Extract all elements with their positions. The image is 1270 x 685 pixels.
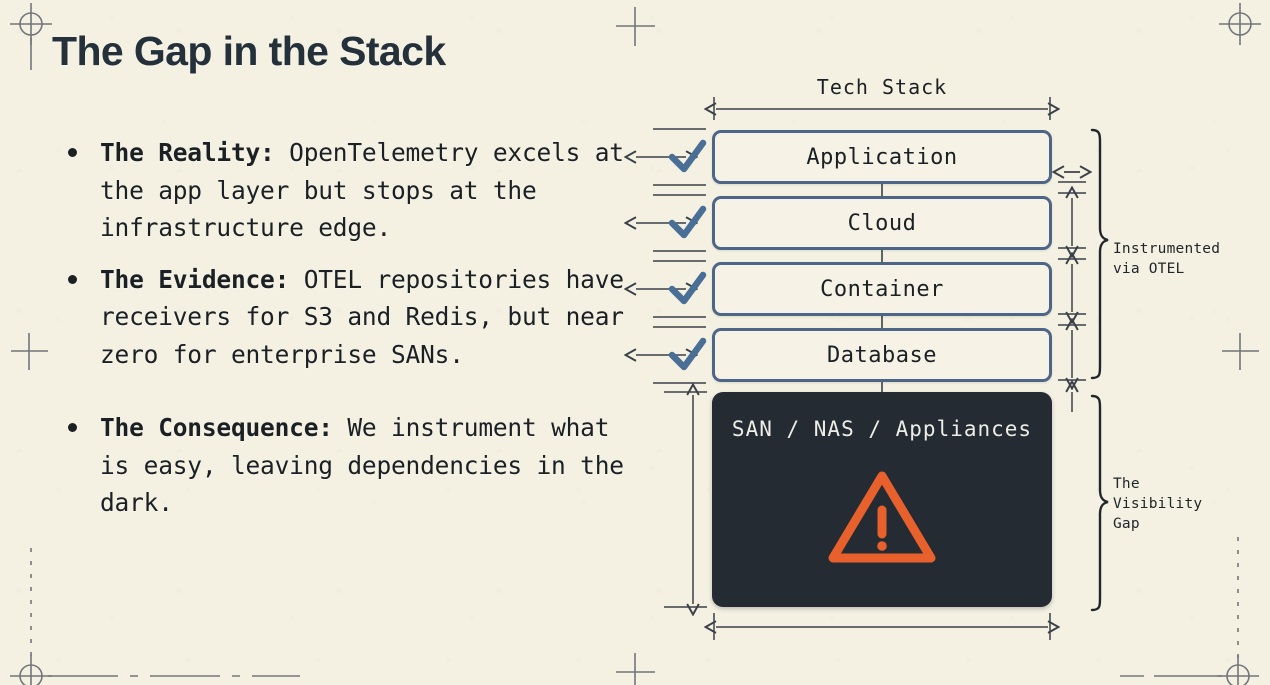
dimension-right-container-database — [1058, 264, 1086, 325]
brace-visibility-gap — [1092, 396, 1108, 610]
stack-layer-cloud[interactable]: Cloud — [712, 196, 1052, 250]
checkmark-icon-database — [672, 341, 703, 367]
tech-stack-label: Tech Stack — [712, 75, 1052, 99]
brace-label-gap-line2: Visibility — [1113, 494, 1202, 514]
brace-instrumented — [1092, 130, 1108, 378]
stack-diagram — [0, 0, 1270, 685]
dimension-gap-height — [664, 392, 707, 607]
stack-layer-label: Database — [827, 343, 937, 368]
warning-triangle-icon — [827, 468, 937, 566]
stack-layer-label: Cloud — [848, 211, 917, 236]
gap-panel-label: SAN / NAS / Appliances — [712, 417, 1052, 441]
brace-label-gap-line1: The — [1113, 474, 1202, 494]
stack-layer-container[interactable]: Container — [712, 262, 1052, 316]
slide-canvas: The Gap in the Stack The Reality: OpenTe… — [0, 0, 1270, 685]
checkmark-icon-container — [672, 275, 703, 301]
dimension-right-app-cloud — [1058, 172, 1086, 193]
stack-layer-application[interactable]: Application — [712, 130, 1052, 184]
dimension-right-cloud-container — [1058, 198, 1086, 259]
brace-label-visibility-gap: The Visibility Gap — [1113, 474, 1202, 534]
dimension-right-database-gap — [1058, 330, 1086, 412]
stack-layer-label: Container — [820, 277, 944, 302]
dimension-top-width — [714, 97, 1050, 120]
dimension-bottom-width — [714, 613, 1050, 640]
stack-layer-database[interactable]: Database — [712, 328, 1052, 382]
brace-label-gap-line3: Gap — [1113, 514, 1202, 534]
brace-label-instrumented-line2: via OTEL — [1113, 259, 1220, 279]
brace-label-instrumented-line1: Instrumented — [1113, 239, 1220, 259]
gap-panel-san-nas-appliances[interactable]: SAN / NAS / Appliances — [712, 392, 1052, 607]
brace-label-instrumented: Instrumented via OTEL — [1113, 239, 1220, 279]
checkmark-icon-application — [672, 143, 703, 169]
checkmark-icon-cloud — [672, 209, 703, 235]
stack-layer-label: Application — [806, 145, 957, 170]
